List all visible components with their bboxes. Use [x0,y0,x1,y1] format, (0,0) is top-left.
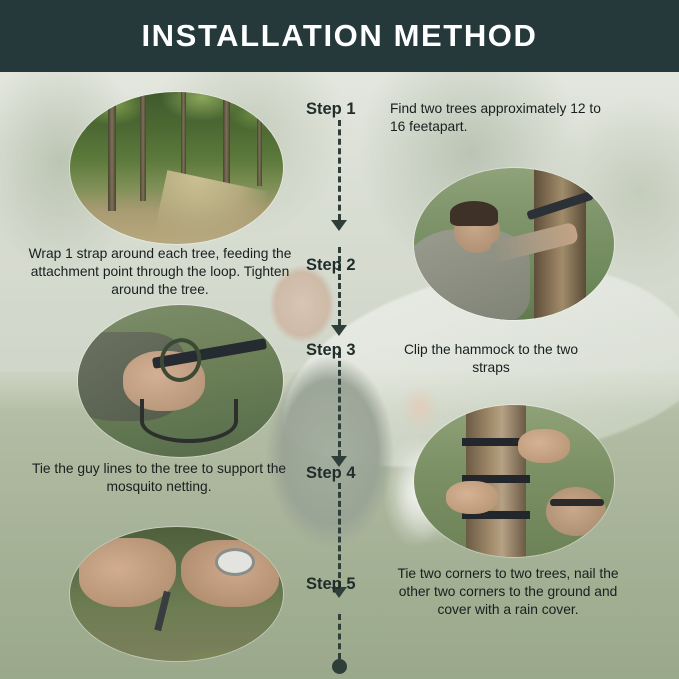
installation-method-infographic: INSTALLATION METHOD [0,0,679,679]
grass [70,621,283,661]
hammock-cord [140,399,238,443]
step-3-label: Step 3 [306,341,356,360]
ground-stake-photo [70,527,283,661]
timeline-dash-segment [338,120,341,220]
guy-line-tie-photo-image [414,405,614,557]
step-3-description: Clip the hammock to the two straps [385,341,597,377]
timeline-dash-segment [338,352,341,456]
sunglasses [550,499,604,506]
tree-trunk [140,92,146,201]
timeline-dash-segment [338,614,341,659]
person-head [546,487,606,536]
page-title: INSTALLATION METHOD [141,18,537,54]
header-banner: INSTALLATION METHOD [0,0,679,72]
step-1-label: Step 1 [306,100,356,119]
tree-trunk [108,92,116,211]
forest-trail [153,170,268,244]
timeline-arrow-icon [331,325,347,336]
step-5-description: Tie two corners to two trees, nail the o… [382,565,634,620]
forest-path-photo-image [70,92,283,244]
tree-trunk [257,92,262,186]
timeline-arrow-icon [331,220,347,231]
carabiner-clip-photo-image [78,305,283,457]
person-hand [446,481,498,514]
timeline-end-dot [332,659,347,674]
carabiner-clip-photo [78,305,283,457]
man-strapping-tree-photo-image [414,168,614,320]
step-2-label: Step 2 [306,256,356,275]
step-4-label: Step 4 [306,464,356,483]
ground-stake-photo-image [70,527,283,661]
step-5-label: Step 5 [306,575,356,594]
forest-path-photo [70,92,283,244]
forest-canopy [70,92,283,160]
person-hand [518,429,570,462]
guy-line-tie-photo [414,405,614,557]
step-1-description: Find two trees approximately 12 to 16 fe… [390,100,610,136]
man-strapping-tree-photo [414,168,614,320]
timeline-dash-segment [338,483,341,587]
wristwatch [215,548,255,575]
step-2-description: Wrap 1 strap around each tree, feeding t… [24,245,296,300]
step-4-description: Tie the guy lines to the tree to support… [28,460,290,496]
person-hair [450,201,498,225]
